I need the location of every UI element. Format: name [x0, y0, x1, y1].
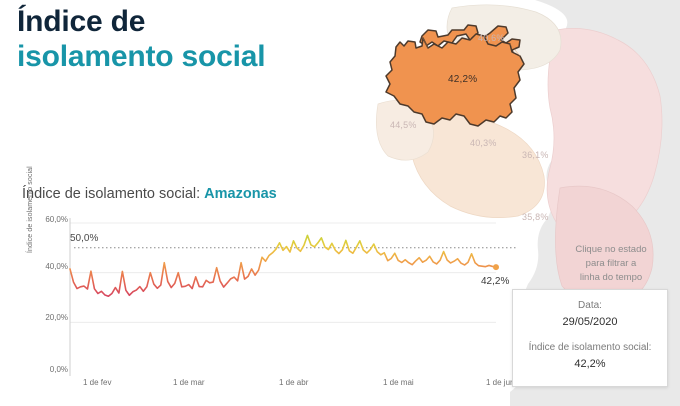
chart-xtick-jun: 1 de jun — [486, 378, 514, 387]
chart-xtick-mai: 1 de mai — [383, 378, 414, 387]
map-label-neighbor-3: 40,3% — [470, 138, 497, 148]
tooltip-date-value: 29/05/2020 — [513, 314, 667, 331]
map-label-neighbor-4: 36,1% — [522, 150, 549, 160]
chart-end-point-marker[interactable] — [493, 264, 499, 270]
chart-y-axis-title: Índice de isolamento social — [27, 166, 34, 253]
tooltip-metric-label: Índice de isolamento social: — [513, 341, 667, 356]
isolation-line-chart[interactable] — [22, 210, 542, 396]
chart-ytick-60: 60,0% — [28, 215, 68, 224]
tooltip-spacer — [513, 330, 667, 341]
chart-xtick-fev: 1 de fev — [83, 378, 111, 387]
chart-ytick-20: 20,0% — [28, 313, 68, 322]
tooltip-metric-value: 42,2% — [513, 356, 667, 373]
chart-series-line — [70, 235, 496, 296]
chart-end-value-label: 42,2% — [481, 276, 509, 287]
chart-ytick-0: 0,0% — [28, 365, 68, 374]
map-label-selected: 42,2% — [448, 74, 477, 85]
map-hint-text: Clique no estado para filtrar a linha do… — [556, 243, 666, 284]
map-hint-line1: Clique no estado — [556, 243, 666, 257]
chart-reference-label: 50,0% — [70, 233, 98, 244]
page-title-line2: isolamento social — [17, 40, 265, 74]
map-label-neighbor-1: 40,6% — [478, 33, 505, 43]
tooltip-date-label: Data: — [513, 299, 667, 314]
chart-xtick-abr: 1 de abr — [279, 378, 308, 387]
chart-title-state: Amazonas — [204, 186, 277, 202]
map-hint-line2: para filtrar a — [556, 257, 666, 271]
page-title: Índice de isolamento social — [17, 5, 265, 73]
chart-title-prefix: Índice de isolamento social: — [22, 186, 200, 202]
chart-ytick-40: 40,0% — [28, 262, 68, 271]
chart-gridlines — [70, 223, 496, 322]
chart-xtick-mar: 1 de mar — [173, 378, 205, 387]
dashboard-root: 42,2% 40,6% 44,5% 40,3% 36,1% 35,8% Índi… — [0, 0, 680, 406]
chart-title: Índice de isolamento social: Amazonas — [22, 186, 277, 202]
map-label-neighbor-2: 44,5% — [390, 120, 417, 130]
chart-tooltip: Data: 29/05/2020 Índice de isolamento so… — [512, 289, 668, 387]
page-title-line1: Índice de — [17, 5, 265, 39]
chart-plot-area[interactable] — [22, 210, 542, 396]
map-hint-line3: linha do tempo — [556, 271, 666, 285]
